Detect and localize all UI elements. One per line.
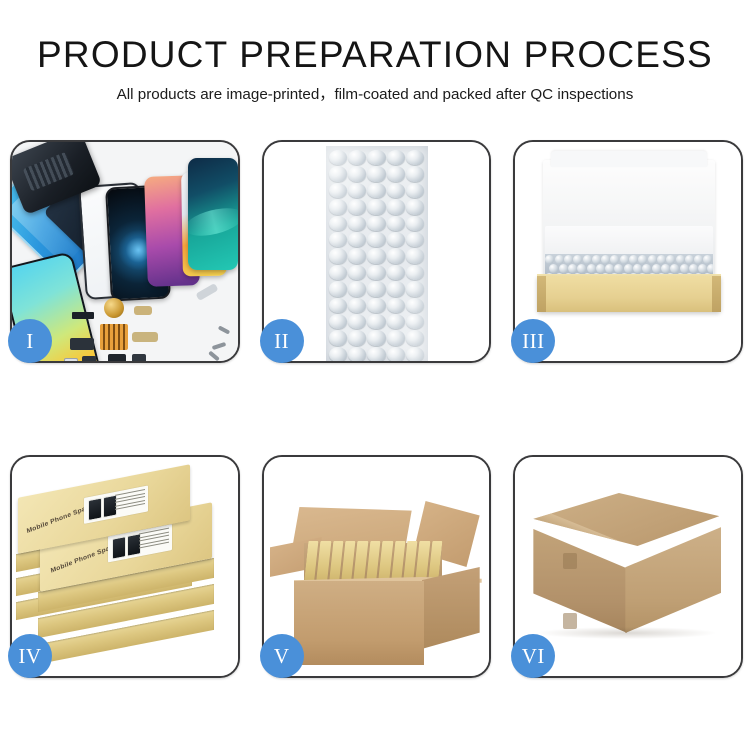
- bubble: [329, 183, 347, 198]
- bubble: [387, 265, 405, 280]
- bubble: [568, 264, 577, 273]
- bubble: [348, 232, 366, 247]
- bubble: [348, 248, 366, 263]
- bubble: [329, 150, 347, 165]
- bubble: [329, 166, 347, 181]
- bubble: [406, 232, 424, 247]
- bubble: [387, 314, 405, 329]
- label-text-lines: [115, 489, 145, 515]
- bubble-grid: [329, 150, 425, 357]
- step-panel-1[interactable]: I: [10, 140, 240, 363]
- bubble: [348, 265, 366, 280]
- bubble: [367, 298, 385, 313]
- bubble: [329, 199, 347, 214]
- bubble: [387, 166, 405, 181]
- bubble: [387, 298, 405, 313]
- spare-part-icon: [70, 338, 94, 350]
- bubble: [367, 330, 385, 345]
- bubble: [587, 264, 596, 273]
- bubble: [596, 264, 605, 273]
- bubble: [657, 255, 666, 264]
- bubble: [406, 216, 424, 231]
- bubble: [367, 166, 385, 181]
- bubble: [387, 347, 405, 361]
- spare-part-icon: [64, 358, 78, 361]
- bubble: [666, 255, 675, 264]
- bubble: [633, 264, 642, 273]
- step-panel-4[interactable]: Mobile Phone Spare Parts Mobi: [10, 455, 240, 678]
- bubble-wrap-icon: [326, 146, 428, 361]
- bubble: [348, 183, 366, 198]
- bubble: [367, 265, 385, 280]
- step-panel-3[interactable]: III: [513, 140, 743, 363]
- bubble: [564, 255, 573, 264]
- phone-thumbnail-icon: [112, 536, 126, 560]
- page-subtitle: All products are image-printed，film-coat…: [0, 73, 750, 102]
- bubble: [329, 314, 347, 329]
- bubble: [406, 281, 424, 296]
- step-panel-2[interactable]: II: [262, 140, 492, 363]
- carton-shadow: [539, 627, 715, 639]
- bubble: [652, 264, 661, 273]
- product-preparation-process-page: PRODUCT PREPARATION PROCESS All products…: [0, 0, 750, 750]
- bubble: [601, 255, 610, 264]
- bubble: [592, 255, 601, 264]
- bubble: [387, 330, 405, 345]
- bubble: [707, 264, 713, 273]
- spare-part-icon: [104, 298, 124, 318]
- bubble: [642, 264, 651, 273]
- bubble: [329, 347, 347, 361]
- box-label: [84, 485, 148, 523]
- bubble: [367, 232, 385, 247]
- spare-part-icon: [100, 324, 128, 350]
- bubble: [367, 281, 385, 296]
- bubble: [348, 347, 366, 361]
- spare-part-icon: [82, 356, 96, 361]
- bubble: [387, 183, 405, 198]
- step-panel-5[interactable]: V: [262, 455, 492, 678]
- bubble: [387, 281, 405, 296]
- bubble: [367, 150, 385, 165]
- bubble: [406, 183, 424, 198]
- bubble: [367, 248, 385, 263]
- bubble: [348, 199, 366, 214]
- spare-part-icon: [72, 312, 94, 319]
- bubble: [685, 255, 694, 264]
- bubble: [387, 199, 405, 214]
- bubble: [406, 314, 424, 329]
- bubble: [367, 347, 385, 361]
- step-panel-6[interactable]: VI: [513, 455, 743, 678]
- bubble: [387, 248, 405, 263]
- bubble: [703, 255, 712, 264]
- phone-screen-teal-icon: [188, 158, 238, 270]
- bubble: [680, 264, 689, 273]
- bubble: [610, 255, 619, 264]
- bubble: [406, 248, 424, 263]
- bubble: [406, 199, 424, 214]
- bubble: [406, 330, 424, 345]
- bubble: [367, 183, 385, 198]
- spare-part-icon: [132, 354, 146, 361]
- bubble: [549, 264, 558, 273]
- bubble: [387, 216, 405, 231]
- bubble: [624, 264, 633, 273]
- bubble: [555, 255, 564, 264]
- bubble: [577, 264, 586, 273]
- bubble: [329, 248, 347, 263]
- bubble: [329, 216, 347, 231]
- bubble: [573, 255, 582, 264]
- bubble: [348, 281, 366, 296]
- step-badge-5: V: [260, 634, 304, 678]
- page-title: PRODUCT PREPARATION PROCESS: [0, 0, 750, 73]
- carton-front-panel: [294, 581, 424, 665]
- bubble: [583, 255, 592, 264]
- bubble: [545, 255, 554, 264]
- kraft-box-body-icon: [537, 276, 721, 312]
- bubble: [676, 255, 685, 264]
- bubble: [559, 264, 568, 273]
- spare-part-icon: [108, 354, 126, 361]
- bubble: [348, 150, 366, 165]
- bubble: [406, 298, 424, 313]
- carton-left-panel: [533, 529, 627, 633]
- steps-row-2: Mobile Phone Spare Parts Mobi: [10, 455, 743, 678]
- steps-grid: I II: [10, 140, 743, 678]
- bubble: [387, 232, 405, 247]
- bubble: [629, 255, 638, 264]
- steps-row-1: I II: [10, 140, 743, 363]
- bubble: [620, 255, 629, 264]
- bubble: [329, 281, 347, 296]
- step-badge-4: IV: [8, 634, 52, 678]
- bubble: [367, 216, 385, 231]
- bubble: [406, 265, 424, 280]
- bubble: [689, 264, 698, 273]
- bubble: [670, 264, 679, 273]
- label-text-lines: [139, 528, 169, 554]
- bubble: [348, 216, 366, 231]
- bubble: [648, 255, 657, 264]
- bubble: [348, 298, 366, 313]
- bubble: [605, 264, 614, 273]
- bubble: [367, 314, 385, 329]
- bubble: [638, 255, 647, 264]
- carton-handle-notch: [563, 553, 577, 569]
- bubble: [348, 166, 366, 181]
- bubble: [387, 150, 405, 165]
- tool-icon: [195, 283, 218, 301]
- bubble: [348, 330, 366, 345]
- bubble: [329, 265, 347, 280]
- bubble: [348, 314, 366, 329]
- bubble: [614, 264, 623, 273]
- bubble: [406, 347, 424, 361]
- bubble: [329, 298, 347, 313]
- screw-icon: [208, 351, 220, 361]
- step-badge-2: II: [260, 319, 304, 363]
- bubble: [367, 199, 385, 214]
- screw-icon: [218, 325, 230, 334]
- bubble: [406, 166, 424, 181]
- bubble: [661, 264, 670, 273]
- bubble: [329, 232, 347, 247]
- bubble: [329, 330, 347, 345]
- bubble: [694, 255, 703, 264]
- step-badge-1: I: [8, 319, 52, 363]
- spare-part-icon: [132, 332, 158, 342]
- carton-side-panel: [422, 567, 480, 649]
- screw-icon: [212, 342, 227, 350]
- phone-thumbnail-icon: [88, 497, 102, 521]
- bubble: [698, 264, 707, 273]
- header: PRODUCT PREPARATION PROCESS All products…: [0, 0, 750, 102]
- spare-part-icon: [134, 306, 152, 315]
- bubble: [406, 150, 424, 165]
